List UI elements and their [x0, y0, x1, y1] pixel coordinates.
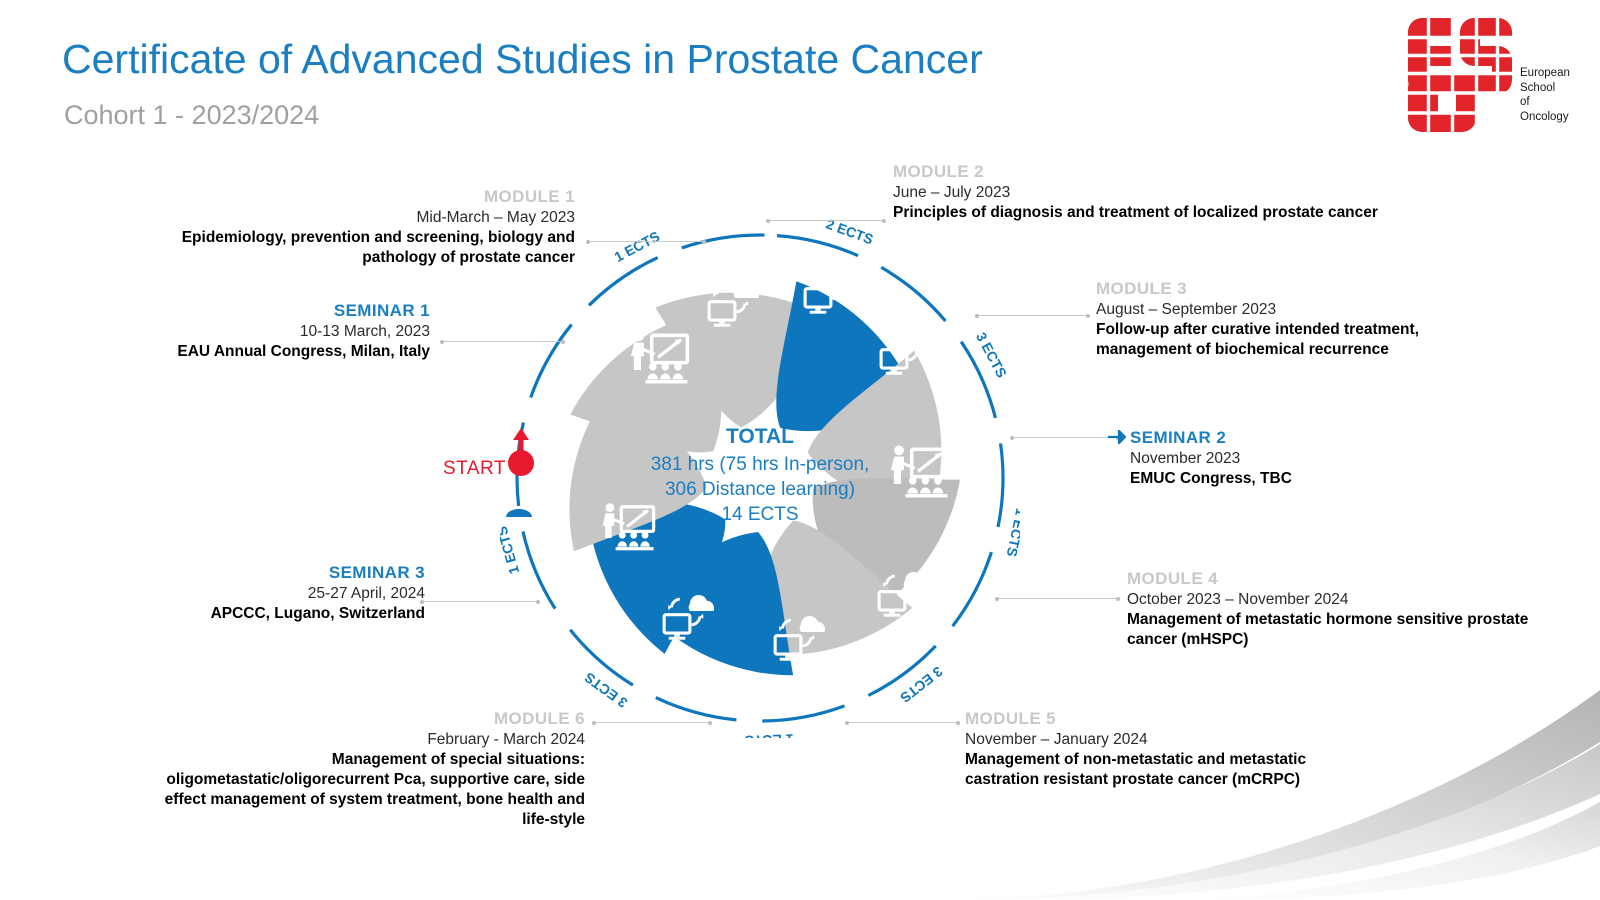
eso-logo-icon: [1398, 18, 1518, 136]
seminar-1-date: 10-13 March, 2023: [130, 321, 430, 342]
ects-label-2: 2 ECTS: [824, 218, 876, 247]
center-line-3: 14 ECTS: [721, 504, 798, 525]
connector-seminar-2: [1010, 437, 1120, 438]
module-2-header: MODULE 2: [893, 161, 1453, 182]
block-seminar-2: SEMINAR 2 November 2023 EMUC Congress, T…: [1130, 427, 1490, 489]
seminar-2-arrow-icon: [1108, 430, 1126, 444]
block-module-3: MODULE 3 August – September 2023 Follow-…: [1096, 278, 1496, 360]
start-marker: [508, 428, 534, 476]
connector-module-1: [586, 241, 706, 242]
connector-module-3: [975, 315, 1090, 316]
block-module-1: MODULE 1 Mid-March – May 2023 Epidemiolo…: [150, 186, 575, 268]
seminar-3-marker: [506, 509, 532, 517]
logo-line-1: European: [1520, 66, 1570, 81]
ects-label-6: 1 ECTS: [744, 731, 794, 738]
eso-logo-text: European School of Oncology: [1520, 66, 1570, 124]
block-module-4: MODULE 4 October 2023 – November 2024 Ma…: [1127, 568, 1542, 650]
connector-module-5: [845, 722, 960, 723]
module-4-desc: Management of metastatic hormone sensiti…: [1127, 610, 1542, 650]
seminar-3-header: SEMINAR 3: [110, 562, 425, 583]
block-module-2: MODULE 2 June – July 2023 Principles of …: [893, 161, 1453, 223]
module-3-date: August – September 2023: [1096, 299, 1496, 320]
module-6-desc: Management of special situations: oligom…: [160, 750, 585, 830]
module-4-date: October 2023 – November 2024: [1127, 589, 1542, 610]
seminar-2-date: November 2023: [1130, 448, 1490, 469]
ects-label-7: 3 ECTS: [581, 669, 630, 711]
seminar-3-desc: APCCC, Lugano, Switzerland: [110, 604, 425, 624]
center-line-1: 381 hrs (75 hrs In-person,: [651, 454, 870, 475]
module-5-date: November – January 2024: [965, 729, 1365, 750]
seminar-2-desc: EMUC Congress, TBC: [1130, 469, 1490, 489]
block-module-6: MODULE 6 February - March 2024 Managemen…: [160, 708, 585, 830]
connector-seminar-1: [440, 341, 565, 342]
ects-label-5: 3 ECTS: [897, 663, 945, 706]
logo-line-3: of: [1520, 95, 1570, 110]
connector-module-4: [995, 598, 1120, 599]
module-2-date: June – July 2023: [893, 182, 1453, 203]
module-1-desc: Epidemiology, prevention and screening, …: [150, 228, 575, 268]
page-subtitle: Cohort 1 - 2023/2024: [64, 100, 319, 131]
ects-label-4: 1 ECTS: [1004, 507, 1020, 558]
module-3-desc: Follow-up after curative intended treatm…: [1096, 320, 1496, 360]
connector-module-2: [766, 220, 886, 221]
seminar-3-date: 25-27 April, 2024: [110, 583, 425, 604]
module-5-header: MODULE 5: [965, 708, 1365, 729]
center-line-2: 306 Distance learning): [665, 479, 855, 500]
module-4-header: MODULE 4: [1127, 568, 1542, 589]
eso-logo: European School of Oncology: [1398, 18, 1588, 143]
start-label: START: [443, 458, 506, 480]
seminar-1-header: SEMINAR 1: [130, 300, 430, 321]
curriculum-wheel: 1 ECTS2 ECTS3 ECTS1 ECTS3 ECTS1 ECTS3 EC…: [500, 218, 1020, 738]
module-3-header: MODULE 3: [1096, 278, 1496, 299]
page-title: Certificate of Advanced Studies in Prost…: [62, 36, 983, 83]
block-seminar-3: SEMINAR 3 25-27 April, 2024 APCCC, Lugan…: [110, 562, 425, 624]
module-1-date: Mid-March – May 2023: [150, 207, 575, 228]
module-6-header: MODULE 6: [160, 708, 585, 729]
block-seminar-1: SEMINAR 1 10-13 March, 2023 EAU Annual C…: [130, 300, 430, 362]
module-5-desc: Management of non-metastatic and metasta…: [965, 750, 1365, 790]
slide-canvas: Certificate of Advanced Studies in Prost…: [0, 0, 1600, 900]
connector-module-6: [592, 722, 712, 723]
seminar-1-desc: EAU Annual Congress, Milan, Italy: [130, 342, 430, 362]
module-6-date: February - March 2024: [160, 729, 585, 750]
logo-line-4: Oncology: [1520, 110, 1570, 125]
module-1-header: MODULE 1: [150, 186, 575, 207]
ects-label-8: 1 ECTS: [500, 524, 522, 576]
seminar-2-header: SEMINAR 2: [1130, 427, 1490, 448]
connector-seminar-3: [420, 601, 540, 602]
block-module-5: MODULE 5 November – January 2024 Managem…: [965, 708, 1365, 790]
module-2-desc: Principles of diagnosis and treatment of…: [893, 203, 1453, 223]
logo-line-2: School: [1520, 81, 1570, 96]
center-total-label: TOTAL: [726, 425, 794, 448]
